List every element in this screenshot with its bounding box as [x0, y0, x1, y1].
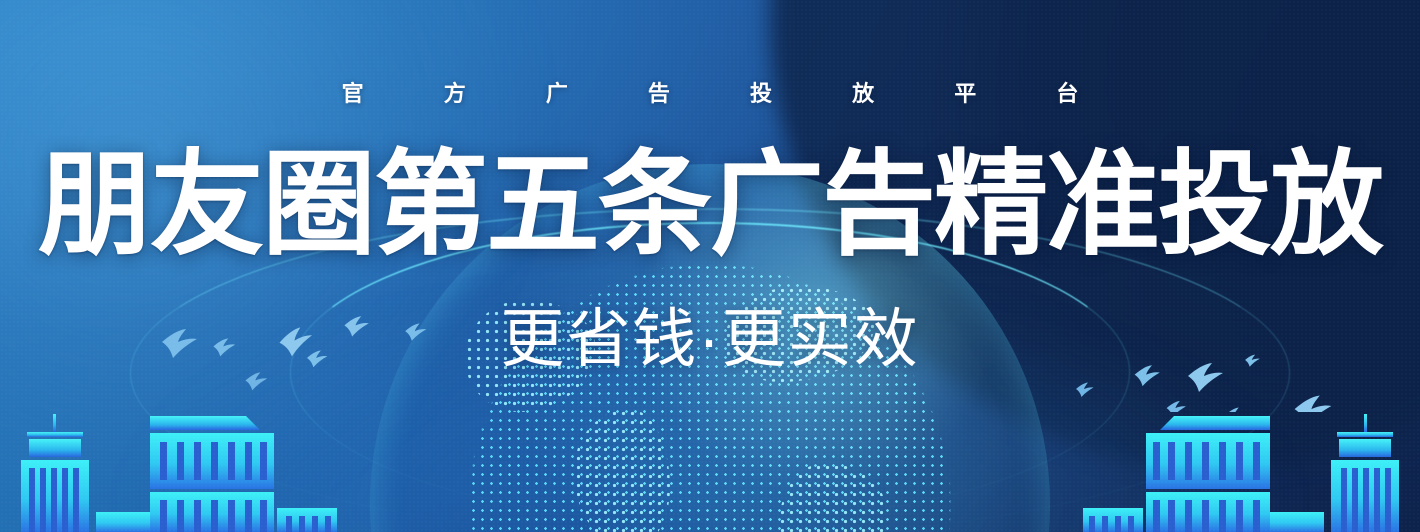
banner-text-content: 官 方 广 告 投 放 平 台 朋友圈第五条广告精准投放 更省钱·更实效 — [0, 0, 1420, 532]
subheadline-text: 更省钱·更实效 — [0, 304, 1420, 374]
headline-title: 朋友圈第五条广告精准投放 — [0, 146, 1420, 267]
eyebrow-label: 官 方 广 告 投 放 平 台 — [0, 76, 1420, 108]
advertising-banner: 官 方 广 告 投 放 平 台 朋友圈第五条广告精准投放 更省钱·更实效 — [0, 0, 1420, 532]
